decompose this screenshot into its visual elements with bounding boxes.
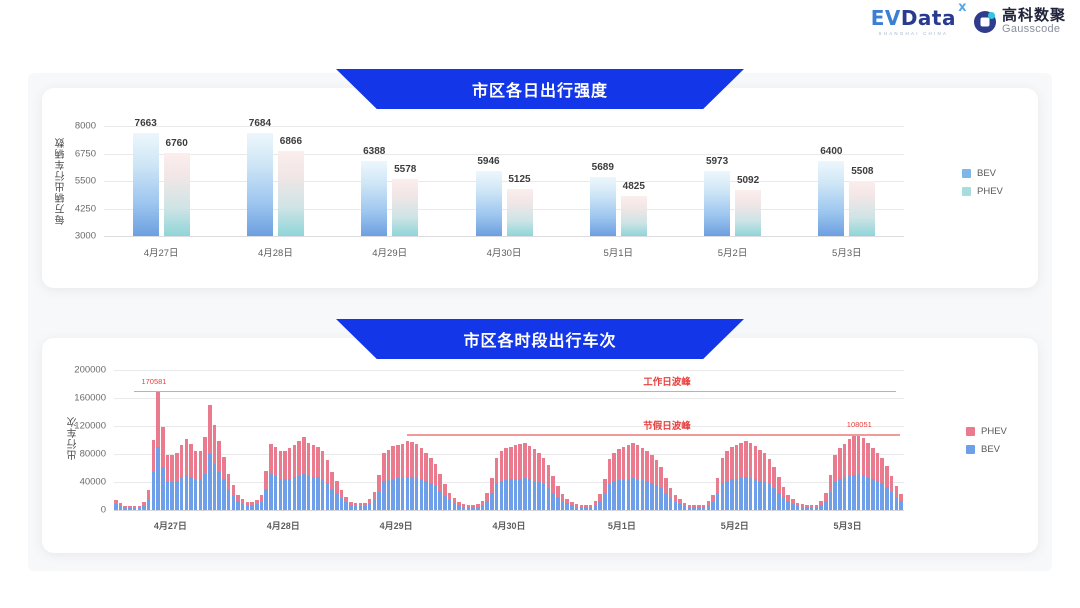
hourly-stacked-bar xyxy=(688,505,692,510)
hourly-bar-segment-phev xyxy=(772,467,776,488)
gausscode-mark-icon xyxy=(974,11,996,33)
hourly-bar-segment-bev xyxy=(631,478,635,510)
hourly-bar-segment-bev xyxy=(307,476,311,510)
hourly-bar-segment-phev xyxy=(297,441,301,476)
hourly-stacked-bar xyxy=(824,493,828,510)
gridline-daily xyxy=(104,236,904,237)
bar-value-label-bev-2: 6388 xyxy=(363,146,385,157)
hourly-bar-segment-bev xyxy=(612,481,616,510)
hourly-bar-segment-phev xyxy=(782,487,786,498)
evdata-logo: EVDatax SHANGHAI CHINA xyxy=(871,8,956,36)
hourly-stacked-bar xyxy=(711,495,715,510)
hourly-bar-segment-phev xyxy=(622,447,626,480)
hourly-bar-segment-bev xyxy=(500,481,504,510)
hourly-stacked-bar xyxy=(608,459,612,510)
hourly-stacked-bar xyxy=(899,494,903,510)
hourly-stacked-bar xyxy=(279,451,283,510)
hourly-bar-segment-phev xyxy=(490,478,494,493)
bar-phev-1 xyxy=(278,151,304,236)
hourly-stacked-bar xyxy=(175,453,179,510)
x-tick-label-hourly-5: 5月2日 xyxy=(721,519,749,532)
hourly-bar-segment-bev xyxy=(250,505,254,510)
hourly-bar-segment-bev xyxy=(434,486,438,510)
hourly-stacked-bar xyxy=(213,425,217,510)
hourly-bar-segment-phev xyxy=(424,453,428,482)
hourly-bar-segment-phev xyxy=(631,443,635,478)
hourly-bar-segment-bev xyxy=(608,484,612,510)
hourly-stacked-bar xyxy=(434,464,438,510)
hourly-bar-segment-phev xyxy=(509,447,513,480)
hourly-stacked-bar xyxy=(485,493,489,510)
hourly-stacked-bar xyxy=(462,504,466,510)
hourly-stacked-bar xyxy=(170,455,174,510)
hourly-stacked-bar xyxy=(749,443,753,510)
hourly-bar-segment-phev xyxy=(777,477,781,492)
gridline-daily xyxy=(104,126,904,127)
hourly-stacked-bar xyxy=(391,446,395,510)
hourly-bar-segment-bev xyxy=(128,508,132,510)
hourly-bar-segment-bev xyxy=(363,506,367,510)
hourly-stacked-bar xyxy=(377,475,381,510)
hourly-bar-segment-bev xyxy=(622,479,626,510)
hourly-bar-segment-bev xyxy=(382,481,386,510)
hourly-bar-segment-bev xyxy=(636,479,640,510)
hourly-bar-segment-bev xyxy=(791,504,795,510)
bar-phev-3 xyxy=(507,189,533,236)
hourly-stacked-bar xyxy=(669,488,673,510)
hourly-bar-segment-bev xyxy=(170,482,174,510)
y-tick-label-hourly: 120000 xyxy=(56,421,106,432)
hourly-bar-segment-bev xyxy=(175,481,179,510)
hourly-stacked-bar xyxy=(707,501,711,510)
hourly-stacked-bar xyxy=(490,478,494,510)
hourly-bar-segment-bev xyxy=(547,488,551,510)
hourly-bar-segment-phev xyxy=(500,451,504,480)
hourly-stacked-bar xyxy=(782,487,786,510)
hourly-bar-segment-bev xyxy=(316,477,320,510)
hourly-stacked-bar xyxy=(805,505,809,510)
hourly-stacked-bar xyxy=(203,437,207,511)
hourly-stacked-bar xyxy=(890,476,894,510)
hourly-bar-segment-phev xyxy=(537,453,541,482)
hourly-bar-segment-phev xyxy=(217,441,221,472)
hourly-stacked-bar xyxy=(194,451,198,510)
hourly-bar-segment-bev xyxy=(617,480,621,510)
hourly-bar-segment-phev xyxy=(420,448,424,480)
hourly-bar-segment-bev xyxy=(495,483,499,510)
bar-value-label-phev-0: 6760 xyxy=(166,138,188,149)
evdata-ev-text: EV xyxy=(871,6,901,30)
hourly-stacked-bar xyxy=(631,443,635,510)
hourly-stacked-bar xyxy=(659,467,663,510)
hourly-bar-segment-bev xyxy=(669,498,673,510)
hourly-bar-segment-bev xyxy=(457,505,461,510)
hourly-stacked-bar xyxy=(772,467,776,510)
hourly-bar-segment-phev xyxy=(636,445,640,479)
hourly-bar-segment-phev xyxy=(330,472,334,489)
hourly-stacked-bar xyxy=(429,458,433,511)
hourly-trips-plot: 出行车次040000800001200001600002000004月27日4月… xyxy=(114,370,904,510)
hourly-bar-segment-bev xyxy=(843,478,847,510)
hourly-bar-segment-bev xyxy=(533,481,537,510)
hourly-stacked-bar xyxy=(533,449,537,510)
hourly-bar-segment-phev xyxy=(857,434,861,473)
hourly-stacked-bar xyxy=(410,442,414,510)
y-tick-label-hourly: 160000 xyxy=(56,393,106,404)
hourly-bar-segment-phev xyxy=(862,438,866,475)
hourly-stacked-bar xyxy=(415,444,419,510)
hourly-bar-segment-bev xyxy=(707,505,711,510)
bar-value-label-bev-6: 6400 xyxy=(820,146,842,157)
hourly-bar-segment-phev xyxy=(438,474,442,491)
hourly-bar-segment-bev xyxy=(862,475,866,510)
hourly-bar-segment-bev xyxy=(561,501,565,510)
bar-value-label-phev-2: 5578 xyxy=(394,164,416,175)
hourly-stacked-bar xyxy=(509,447,513,510)
hourly-bar-segment-phev xyxy=(561,494,565,501)
y-tick-label-hourly: 0 xyxy=(56,505,106,516)
legend-swatch-bev xyxy=(962,169,971,178)
hourly-bar-segment-phev xyxy=(382,453,386,481)
hourly-bar-segment-phev xyxy=(222,457,226,479)
hourly-bar-segment-bev xyxy=(424,481,428,510)
x-tick-label-daily-1: 4月28日 xyxy=(258,245,293,259)
hourly-stacked-bar xyxy=(406,441,410,510)
x-tick-label-hourly-2: 4月29日 xyxy=(380,519,413,532)
hourly-stacked-bar xyxy=(420,448,424,510)
gridline-hourly xyxy=(114,426,904,427)
bar-bev-6 xyxy=(818,161,844,236)
hourly-bar-segment-phev xyxy=(415,444,419,478)
hourly-bar-segment-bev xyxy=(156,447,160,510)
hourly-bar-segment-bev xyxy=(152,472,156,511)
hourly-stacked-bar xyxy=(862,438,866,510)
hourly-bar-segment-bev xyxy=(185,475,189,510)
gridline-daily xyxy=(104,181,904,182)
x-tick-label-daily-5: 5月2日 xyxy=(718,245,748,259)
hourly-bar-segment-bev xyxy=(678,504,682,510)
hourly-bar-segment-phev xyxy=(203,437,207,474)
hourly-stacked-bar xyxy=(208,405,212,510)
bar-bev-1 xyxy=(247,133,273,236)
hourly-stacked-bar xyxy=(312,445,316,510)
hourly-bar-segment-bev xyxy=(876,481,880,510)
bar-value-label-phev-1: 6866 xyxy=(280,136,302,147)
hourly-bar-segment-bev xyxy=(880,483,884,510)
hourly-bar-segment-bev xyxy=(199,479,203,510)
hourly-bar-segment-bev xyxy=(232,495,236,510)
hourly-stacked-bar xyxy=(895,486,899,510)
hourly-bar-segment-bev xyxy=(443,496,447,510)
hourly-stacked-bar xyxy=(232,485,236,510)
gausscode-text-block: 高科数聚 Gausscode xyxy=(1002,8,1066,35)
hourly-stacked-bar xyxy=(843,444,847,511)
evdata-superscript-x: x xyxy=(958,1,967,14)
hourly-bar-segment-bev xyxy=(674,502,678,510)
hourly-bar-segment-phev xyxy=(528,446,532,480)
bar-value-label-bev-1: 7684 xyxy=(249,118,271,129)
hourly-bar-segment-phev xyxy=(401,444,405,478)
evdata-wordmark: EVDatax xyxy=(871,8,956,28)
bar-bev-0 xyxy=(133,133,159,236)
hourly-bar-segment-phev xyxy=(533,449,537,481)
hourly-bar-segment-phev xyxy=(429,458,433,484)
hourly-bar-segment-phev xyxy=(448,493,452,501)
hourly-stacked-bar xyxy=(335,481,339,510)
hourly-bar-segment-bev xyxy=(264,489,268,510)
hourly-stacked-bar xyxy=(316,447,320,510)
y-tick-label-daily: 4250 xyxy=(56,203,96,214)
hourly-bar-segment-bev xyxy=(462,507,466,511)
hourly-stacked-bar xyxy=(664,478,668,510)
hourly-bar-segment-phev xyxy=(744,441,748,477)
hourly-stacked-bar xyxy=(227,474,231,510)
x-tick-label-daily-3: 4月30日 xyxy=(487,245,522,259)
hourly-bar-segment-bev xyxy=(730,479,734,510)
brand-logo-bar: EVDatax SHANGHAI CHINA 高科数聚 Gausscode xyxy=(871,8,1066,36)
hourly-stacked-bar xyxy=(683,503,687,510)
hourly-stacked-bar xyxy=(185,439,189,510)
gausscode-logo: 高科数聚 Gausscode xyxy=(974,8,1066,35)
hourly-bar-segment-phev xyxy=(340,490,344,498)
hourly-bar-segment-bev xyxy=(871,479,875,510)
hourly-stacked-bar xyxy=(598,494,602,510)
bar-phev-0 xyxy=(164,153,190,236)
hourly-bar-segment-bev xyxy=(396,478,400,510)
bar-phev-2 xyxy=(392,179,418,236)
hourly-bar-segment-bev xyxy=(321,479,325,510)
hourly-stacked-bar xyxy=(467,505,471,510)
hourly-bar-segment-bev xyxy=(330,489,334,510)
gridline-hourly xyxy=(114,398,904,399)
hourly-stacked-bar xyxy=(476,504,480,510)
hourly-stacked-bar xyxy=(189,444,193,511)
hourly-bar-segment-phev xyxy=(627,445,631,479)
hourly-stacked-bar xyxy=(453,498,457,510)
hourly-stacked-bar xyxy=(556,486,560,510)
legend-item-daily-phev: PHEV xyxy=(962,186,1003,197)
hourly-bar-segment-phev xyxy=(833,455,837,482)
hourly-bar-segment-bev xyxy=(650,483,654,510)
hourly-bar-segment-phev xyxy=(443,484,447,496)
hourly-bar-segment-phev xyxy=(899,494,903,501)
hourly-stacked-bar xyxy=(373,492,377,510)
hourly-bar-segment-bev xyxy=(782,497,786,510)
hourly-bar-segment-bev xyxy=(161,467,165,510)
hourly-bar-segment-bev xyxy=(542,484,546,510)
peak-value-label-170581: 170581 xyxy=(141,377,166,386)
hourly-bar-segment-phev xyxy=(603,479,607,494)
hourly-bar-segment-bev xyxy=(899,501,903,510)
hourly-stacked-bar xyxy=(725,451,729,510)
x-tick-label-daily-0: 4月27日 xyxy=(144,245,179,259)
hourly-bar-segment-phev xyxy=(848,439,852,476)
hourly-bar-segment-phev xyxy=(269,444,273,475)
hourly-stacked-bar xyxy=(655,460,659,510)
hourly-stacked-bar xyxy=(382,453,386,510)
hourly-bar-segment-bev xyxy=(255,504,259,510)
hourly-bar-segment-phev xyxy=(518,444,522,479)
hourly-bar-segment-bev xyxy=(655,485,659,510)
hourly-bar-segment-phev xyxy=(829,475,833,492)
hourly-stacked-bar xyxy=(641,448,645,510)
hourly-bar-segment-bev xyxy=(697,507,701,510)
hourly-stacked-bar xyxy=(128,506,132,510)
hourly-bar-segment-phev xyxy=(189,444,193,477)
hourly-bar-segment-bev xyxy=(297,476,301,510)
evdata-subtitle: SHANGHAI CHINA xyxy=(879,31,949,36)
hourly-stacked-bar xyxy=(236,495,240,510)
hourly-stacked-bar xyxy=(565,499,569,510)
y-tick-label-daily: 3000 xyxy=(56,231,96,242)
hourly-bar-segment-bev xyxy=(471,507,475,510)
hourly-bar-segment-phev xyxy=(156,391,160,447)
hourly-bar-segment-bev xyxy=(692,507,696,510)
hourly-bar-segment-bev xyxy=(406,477,410,510)
hourly-stacked-bar xyxy=(438,474,442,510)
hourly-bar-segment-phev xyxy=(655,460,659,485)
hourly-stacked-bar xyxy=(156,391,160,510)
hourly-stacked-bar xyxy=(518,444,522,511)
gridline-daily xyxy=(104,209,904,210)
y-tick-label-daily: 8000 xyxy=(56,121,96,132)
hourly-stacked-bar xyxy=(551,476,555,510)
hourly-stacked-bar xyxy=(758,450,762,510)
hourly-bar-segment-bev xyxy=(147,499,151,510)
hourly-bar-segment-phev xyxy=(880,458,884,483)
hourly-stacked-bar xyxy=(448,493,452,511)
hourly-bar-segment-bev xyxy=(824,501,828,510)
hourly-bar-segment-phev xyxy=(406,441,410,477)
hourly-bar-segment-phev xyxy=(716,478,720,493)
hourly-stacked-bar xyxy=(152,440,156,510)
hourly-trips-card: 出行车次040000800001200001600002000004月27日4月… xyxy=(42,338,1038,553)
hourly-stacked-bar xyxy=(542,458,546,511)
hourly-bar-segment-bev xyxy=(688,507,692,510)
hourly-stacked-bar xyxy=(349,502,353,510)
hourly-bar-segment-bev xyxy=(377,492,381,510)
hourly-bar-segment-phev xyxy=(824,493,828,501)
hourly-bar-segment-bev xyxy=(857,474,861,510)
hourly-bar-segment-phev xyxy=(434,464,438,486)
hourly-bar-segment-bev xyxy=(504,480,508,510)
hourly-bar-segment-bev xyxy=(415,478,419,510)
bar-value-label-bev-0: 7663 xyxy=(135,118,157,129)
y-tick-label-daily: 6750 xyxy=(56,148,96,159)
hourly-bar-segment-bev xyxy=(279,479,283,510)
hourly-bar-segment-bev xyxy=(702,507,706,510)
hourly-bar-segment-bev xyxy=(166,482,170,510)
hourly-stacked-bar xyxy=(133,506,137,510)
hourly-bar-segment-bev xyxy=(683,506,687,510)
hourly-bar-segment-phev xyxy=(391,446,395,478)
hourly-stacked-bar xyxy=(697,505,701,510)
bar-value-label-phev-6: 5508 xyxy=(851,166,873,177)
hourly-bar-segment-bev xyxy=(580,507,584,510)
hourly-stacked-bar xyxy=(575,504,579,510)
hourly-bar-segment-phev xyxy=(754,446,758,479)
hourly-bar-segment-bev xyxy=(641,480,645,510)
bar-bev-5 xyxy=(704,171,730,236)
hourly-bar-segment-bev xyxy=(565,503,569,510)
hourly-bar-segment-bev xyxy=(716,493,720,510)
hourly-stacked-bar xyxy=(274,447,278,510)
gridline-hourly xyxy=(114,510,904,511)
hourly-bar-segment-bev xyxy=(467,507,471,510)
hourly-stacked-bar xyxy=(443,484,447,510)
hourly-bar-segment-phev xyxy=(843,444,847,478)
x-tick-label-hourly-1: 4月28日 xyxy=(267,519,300,532)
hourly-bar-segment-bev xyxy=(523,478,527,510)
hourly-stacked-bar xyxy=(359,503,363,510)
hourly-bar-segment-phev xyxy=(523,443,527,478)
hourly-stacked-bar xyxy=(852,435,856,510)
hourly-bar-segment-phev xyxy=(598,494,602,501)
hourly-bar-segment-phev xyxy=(542,458,546,485)
hourly-bar-segment-phev xyxy=(876,453,880,482)
hourly-bar-segment-bev xyxy=(739,478,743,510)
hourly-stacked-bar xyxy=(612,453,616,510)
hourly-stacked-bar xyxy=(584,505,588,510)
hourly-stacked-bar xyxy=(730,447,734,510)
hourly-bar-segment-bev xyxy=(645,481,649,510)
gausscode-chinese-name: 高科数聚 xyxy=(1002,8,1066,24)
daily-intensity-plot: 每万辆出行车辆数30004250550067508000766367604月27… xyxy=(104,126,904,236)
hourly-stacked-bar xyxy=(119,503,123,510)
hourly-bar-segment-phev xyxy=(288,448,292,478)
hourly-stacked-bar xyxy=(885,466,889,510)
hourly-bar-segment-bev xyxy=(721,483,725,510)
hourly-bar-segment-bev xyxy=(138,508,142,510)
hourly-bar-segment-phev xyxy=(885,466,889,487)
hourly-stacked-bar xyxy=(340,490,344,510)
hourly-bar-segment-phev xyxy=(274,447,278,476)
hourly-stacked-bar xyxy=(326,460,330,510)
hourly-bar-segment-phev xyxy=(758,450,762,481)
hourly-bar-segment-bev xyxy=(518,479,522,511)
hourly-bar-segment-phev xyxy=(213,425,217,464)
legend-swatch-phev xyxy=(962,187,971,196)
hourly-bar-segment-bev xyxy=(664,493,668,510)
bar-value-label-bev-4: 5689 xyxy=(592,162,614,173)
hourly-bar-segment-phev xyxy=(387,450,391,480)
hourly-bar-segment-bev xyxy=(401,478,405,510)
hourly-bar-segment-bev xyxy=(763,482,767,510)
hourly-stacked-bar xyxy=(768,459,772,510)
hourly-bar-segment-phev xyxy=(312,445,316,477)
hourly-bar-segment-phev xyxy=(547,465,551,487)
hourly-stacked-bar xyxy=(650,455,654,510)
hourly-stacked-bar xyxy=(269,444,273,511)
hourly-bar-segment-phev xyxy=(293,445,297,477)
hourly-stacked-bar xyxy=(603,479,607,510)
x-tick-label-daily-6: 5月3日 xyxy=(832,245,862,259)
hourly-bar-segment-bev xyxy=(749,478,753,510)
hourly-bar-segment-phev xyxy=(612,453,616,482)
hourly-bar-segment-bev xyxy=(217,472,221,511)
hourly-stacked-bar xyxy=(702,505,706,510)
hourly-bar-segment-bev xyxy=(772,488,776,510)
hourly-bar-segment-bev xyxy=(288,479,292,511)
hourly-stacked-bar xyxy=(636,445,640,510)
hourly-bar-segment-bev xyxy=(514,479,518,510)
hourly-bar-segment-phev xyxy=(735,445,739,478)
legend-label-bev: BEV xyxy=(977,168,996,179)
hourly-stacked-bar xyxy=(857,434,861,510)
hourly-stacked-bar xyxy=(810,505,814,510)
hourly-stacked-bar xyxy=(523,443,527,510)
y-tick-label-hourly: 40000 xyxy=(56,477,106,488)
